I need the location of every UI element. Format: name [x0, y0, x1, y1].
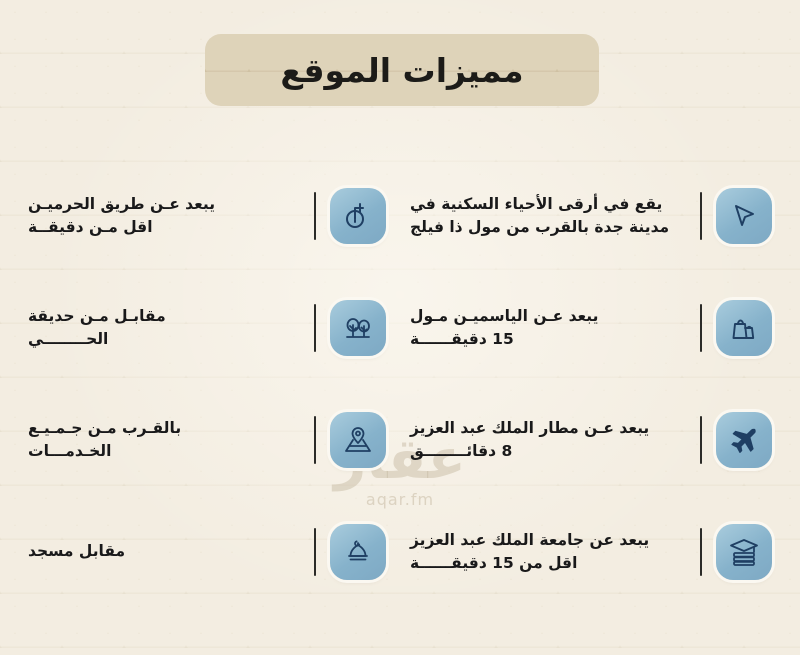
mosque-icon-tile: [330, 524, 386, 580]
feature-text-location: يقع في أرقى الأحياء السكنية في مدينة جدة…: [410, 193, 686, 240]
feature-line: يبعد عـن مطار الملك عبد العزيز: [410, 417, 686, 440]
park-trees-icon: [342, 312, 374, 344]
road-highway-icon: [342, 200, 374, 232]
shopping-bags-icon: [728, 312, 760, 344]
feature-item-airport: يبعد عـن مطار الملك عبد العزيز 8 دقائـــ…: [400, 384, 800, 496]
feature-line: الخـدمـــات: [28, 440, 300, 463]
mosque-icon: [342, 536, 374, 568]
cursor-arrow-icon-tile: [716, 188, 772, 244]
map-pin-icon-tile: [330, 412, 386, 468]
feature-divider: [700, 192, 702, 240]
feature-divider: [700, 528, 702, 576]
infographic-canvas: عقار aqar.fm مميزات الموقع يقع في أرقى ا…: [0, 0, 800, 655]
feature-line: مقابل مسجد: [28, 540, 300, 563]
feature-item-location: يقع في أرقى الأحياء السكنية في مدينة جدة…: [400, 160, 800, 272]
airplane-icon-tile: [716, 412, 772, 468]
feature-item-services: بالقـرب مـن جـمـيـع الخـدمـــات: [0, 384, 400, 496]
feature-line: مقابـل مـن حديقة: [28, 305, 300, 328]
feature-line: بالقـرب مـن جـمـيـع: [28, 417, 300, 440]
feature-text-neighborhood-park: مقابـل مـن حديقة الحــــــــي: [28, 305, 300, 352]
feature-item-mosque: مقابل مسجد: [0, 496, 400, 608]
park-trees-icon-tile: [330, 300, 386, 356]
road-highway-icon-tile: [330, 188, 386, 244]
feature-line: اقل مـن دقيقــة: [28, 216, 300, 239]
feature-text-mosque: مقابل مسجد: [28, 540, 300, 563]
feature-text-airport: يبعد عـن مطار الملك عبد العزيز 8 دقائـــ…: [410, 417, 686, 464]
feature-text-university: يبعد عن جامعة الملك عبد العزيز اقل من 15…: [410, 529, 686, 576]
feature-divider: [314, 192, 316, 240]
feature-divider: [314, 528, 316, 576]
shopping-bags-icon-tile: [716, 300, 772, 356]
feature-item-university: يبعد عن جامعة الملك عبد العزيز اقل من 15…: [400, 496, 800, 608]
feature-line: الحــــــــي: [28, 328, 300, 351]
feature-text-haramain-road: يبعد عـن طريق الحرميـن اقل مـن دقيقــة: [28, 193, 300, 240]
map-pin-icon: [342, 424, 374, 456]
title-banner: مميزات الموقع: [205, 34, 599, 106]
feature-line: اقل من 15 دقيقــــــة: [410, 552, 686, 575]
features-grid: يقع في أرقى الأحياء السكنية في مدينة جدة…: [0, 160, 800, 610]
feature-line: يقع في أرقى الأحياء السكنية في: [410, 193, 686, 216]
feature-line: يبعد عـن طريق الحرميـن: [28, 193, 300, 216]
feature-line: 8 دقائــــــــق: [410, 440, 686, 463]
page-title: مميزات الموقع: [280, 51, 523, 90]
feature-text-services: بالقـرب مـن جـمـيـع الخـدمـــات: [28, 417, 300, 464]
graduation-books-icon: [728, 536, 760, 568]
feature-item-neighborhood-park: مقابـل مـن حديقة الحــــــــي: [0, 272, 400, 384]
feature-item-haramain-road: يبعد عـن طريق الحرميـن اقل مـن دقيقــة: [0, 160, 400, 272]
feature-divider: [314, 416, 316, 464]
feature-item-yasmin-mall: يبعد عـن الياسميـن مـول 15 دقيقــــــة: [400, 272, 800, 384]
feature-line: مدينة جدة بالقرب من مول ذا فيلج: [410, 216, 686, 239]
feature-text-yasmin-mall: يبعد عـن الياسميـن مـول 15 دقيقــــــة: [410, 305, 686, 352]
feature-line: يبعد عـن الياسميـن مـول: [410, 305, 686, 328]
feature-divider: [314, 304, 316, 352]
cursor-arrow-icon: [728, 200, 760, 232]
feature-line: يبعد عن جامعة الملك عبد العزيز: [410, 529, 686, 552]
feature-divider: [700, 416, 702, 464]
airplane-icon: [728, 424, 760, 456]
feature-line: 15 دقيقــــــة: [410, 328, 686, 351]
feature-divider: [700, 304, 702, 352]
graduation-books-icon-tile: [716, 524, 772, 580]
